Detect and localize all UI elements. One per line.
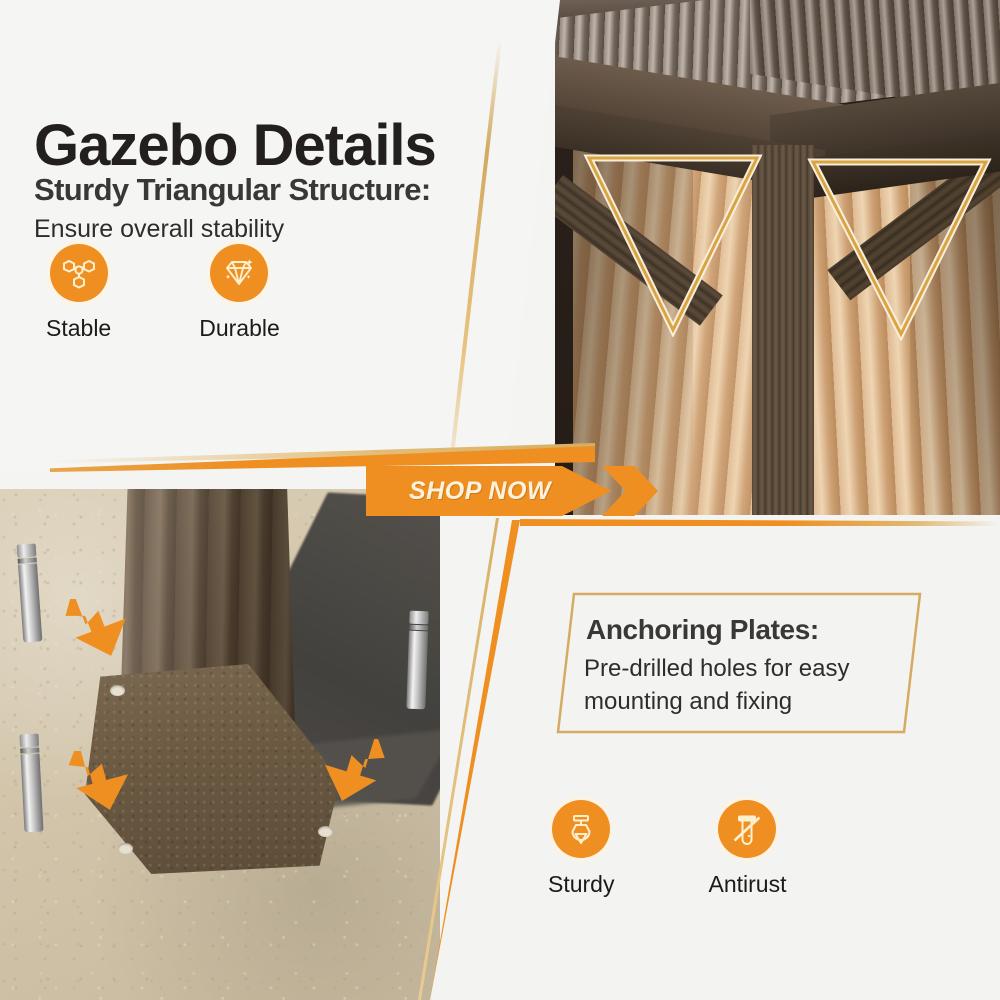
feature-sturdy: Sturdy [548,800,614,898]
callout-arrow-top-icon [56,599,126,680]
callout-arrow-bottom-left-icon [58,751,128,832]
page-title: Gazebo Details [34,117,436,175]
feature-stable: Stable [46,244,111,342]
pre-drilled-hole [318,826,333,837]
no-rust-bolt-icon [718,800,776,858]
molecule-hexagon-icon [50,244,108,302]
shop-now-button[interactable]: SHOP NOW [366,466,676,516]
bottom-panel-title: Anchoring Plates: [586,614,819,646]
feature-label: Antirust [708,871,786,898]
callout-arrow-bottom-right-icon [320,739,398,824]
feature-label: Stable [46,315,111,342]
pre-drilled-hole [118,843,133,854]
top-panel-subtitle: Sturdy Triangular Structure: [34,172,431,208]
anchor-bolt-icon [552,800,610,858]
feature-label: Durable [199,315,280,342]
infographic-canvas: Gazebo Details Sturdy Triangular Structu… [0,0,1000,1000]
top-feature-list: Stable Durable [46,244,280,342]
feature-durable: Durable [199,244,280,342]
feature-label: Sturdy [548,871,614,898]
diamond-icon [210,244,268,302]
triangle-highlight-left-icon [583,152,763,337]
expansion-bolt [406,611,428,710]
anchoring-plates-callout-box: Anchoring Plates: Pre-drilled holes for … [556,592,922,734]
pre-drilled-hole [110,685,125,696]
top-panel-description: Ensure overall stability [34,215,284,244]
anchor-plate-photo [0,489,440,1000]
bottom-feature-list: Sturdy Antirust [548,800,786,898]
feature-antirust: Antirust [708,800,786,898]
bottom-panel-description: Pre-drilled holes for easy mounting and … [584,652,914,718]
cta-label: SHOP NOW [366,466,594,516]
triangle-highlight-right-icon [807,156,992,341]
gazebo-corner-photo [555,0,1000,515]
